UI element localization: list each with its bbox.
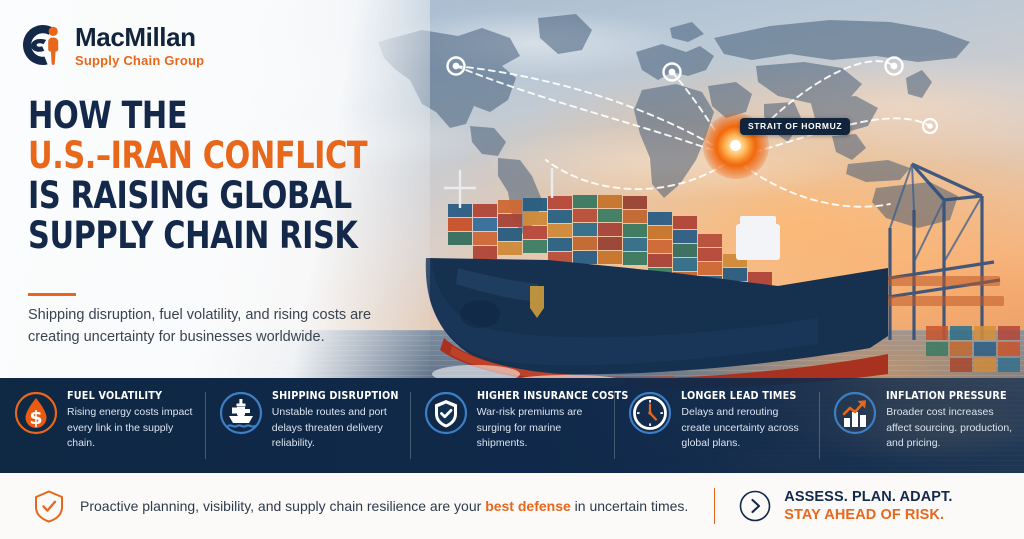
footer-message-post: in uncertain times. — [571, 498, 689, 514]
shield-check-icon — [424, 391, 468, 435]
risk-card-longer-lead-times[interactable]: LONGER LEAD TIMES Delays and rerouting c… — [614, 378, 819, 473]
risk-card-title: FUEL VOLATILITY — [67, 390, 185, 402]
risk-card-desc: Unstable routes and port delays threaten… — [272, 405, 400, 452]
risk-cards: $ FUEL VOLATILITY Rising energy costs im… — [0, 378, 1024, 473]
footer-message-emphasis: best defense — [485, 498, 571, 514]
svg-text:$: $ — [29, 407, 42, 429]
headline-line-4: SUPPLY CHAIN RISK — [28, 216, 356, 256]
left-content-panel: MacMillan Supply Chain Group HOW THE U.S… — [0, 0, 430, 378]
risk-card-text: INFLATION PRESSURE Broader cost increase… — [886, 378, 1014, 452]
clock-icon — [628, 391, 672, 435]
headline: HOW THE U.S.–IRAN CONFLICT IS RAISING GL… — [28, 96, 428, 256]
risk-card-fuel-volatility[interactable]: $ FUEL VOLATILITY Rising energy costs im… — [0, 378, 205, 473]
hormuz-hotspot-core — [730, 140, 741, 151]
container-ship — [418, 168, 888, 390]
subheading-text: Shipping disruption, fuel volatility, an… — [28, 304, 383, 348]
footer-message: Proactive planning, visibility, and supp… — [80, 497, 688, 516]
chevron-right-circle-icon[interactable] — [739, 490, 771, 522]
risk-card-higher-insurance-costs[interactable]: HIGHER INSURANCE COSTS War-risk premiums… — [410, 378, 615, 473]
cta-line-1: ASSESS. PLAN. ADAPT. — [784, 488, 952, 506]
risk-factors-band: $ FUEL VOLATILITY Rising energy costs im… — [0, 378, 1024, 473]
headline-line-3: IS RAISING GLOBAL — [28, 176, 356, 216]
footer-divider — [714, 488, 715, 524]
bar-chart-arrow-up-icon — [833, 391, 877, 435]
risk-card-title: LONGER LEAD TIMES — [681, 390, 799, 402]
cta-line-2: STAY AHEAD OF RISK. — [784, 506, 952, 524]
risk-card-shipping-disruption[interactable]: SHIPPING DISRUPTION Unstable routes and … — [205, 378, 410, 473]
risk-card-text: LONGER LEAD TIMES Delays and rerouting c… — [681, 378, 809, 452]
risk-card-title: INFLATION PRESSURE — [886, 390, 1004, 402]
risk-card-title: HIGHER INSURANCE COSTS — [477, 390, 595, 402]
risk-card-text: HIGHER INSURANCE COSTS War-risk premiums… — [477, 378, 605, 452]
headline-line-2: U.S.–IRAN CONFLICT — [28, 136, 356, 176]
footer-bar: Proactive planning, visibility, and supp… — [0, 473, 1024, 539]
risk-card-text: SHIPPING DISRUPTION Unstable routes and … — [272, 378, 400, 452]
cargo-ship-icon — [219, 391, 263, 435]
brand-logo[interactable]: MacMillan Supply Chain Group — [20, 22, 204, 68]
brand-name: MacMillan — [75, 24, 204, 50]
fuel-droplet-dollar-icon: $ — [14, 391, 58, 435]
risk-card-text: FUEL VOLATILITY Rising energy costs impa… — [67, 378, 195, 452]
risk-card-desc: Rising energy costs impact every link in… — [67, 405, 195, 452]
accent-divider — [28, 293, 76, 296]
macmillan-logo-icon — [20, 22, 66, 68]
footer-message-pre: Proactive planning, visibility, and supp… — [80, 498, 485, 514]
risk-card-desc: Delays and rerouting create uncertainty … — [681, 405, 809, 452]
risk-card-desc: War-risk premiums are surging for marine… — [477, 405, 605, 452]
headline-line-1: HOW THE — [28, 96, 356, 136]
risk-card-inflation-pressure[interactable]: INFLATION PRESSURE Broader cost increase… — [819, 378, 1024, 473]
brand-tagline: Supply Chain Group — [75, 54, 204, 67]
brand-wordmark: MacMillan Supply Chain Group — [75, 24, 204, 67]
shield-check-outline-icon — [32, 489, 66, 523]
infographic-canvas: STRAIT OF HORMUZ — [0, 0, 1024, 539]
risk-card-desc: Broader cost increases affect sourcing. … — [886, 405, 1014, 452]
risk-card-title: SHIPPING DISRUPTION — [272, 390, 390, 402]
footer-cta[interactable]: ASSESS. PLAN. ADAPT. STAY AHEAD OF RISK. — [784, 488, 952, 524]
hormuz-label: STRAIT OF HORMUZ — [740, 118, 850, 135]
